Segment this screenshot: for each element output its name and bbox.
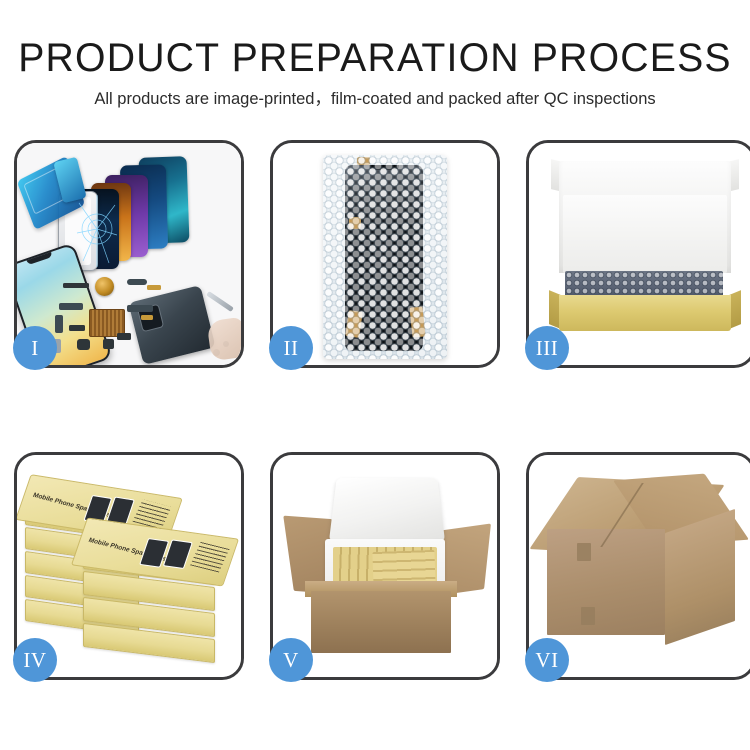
carton-front-face [547,529,665,635]
step-card-1: I [14,140,244,368]
step-badge-6: VI [525,638,569,682]
copper-coil-component [95,277,114,296]
carton-front-panel [311,591,451,653]
step-badge-3: III [525,326,569,370]
process-step-grid: I II [14,140,736,680]
infographic-page: PRODUCT PREPARATION PROCESS All products… [0,0,750,750]
header: PRODUCT PREPARATION PROCESS All products… [0,36,750,109]
step-card-5: V [270,452,500,680]
cracked-glass-icon [75,189,119,269]
step-badge-5: V [269,638,313,682]
step-card-3: III [526,140,750,368]
carton-side-panel [665,509,735,645]
foam-insert [563,195,727,273]
box-front-panel [559,295,731,331]
step-card-2: II [270,140,500,368]
carton-tape-upper [577,543,591,561]
step-badge-1: I [13,326,57,370]
step-badge-2: II [269,326,313,370]
step-card-4: Mobile Phone Spare Parts Mobile Phone Sp… [14,452,244,680]
page-subtitle: All products are image-printed，film-coat… [0,89,750,109]
step-badge-4: IV [13,638,57,682]
carton-tape-lower [581,607,595,625]
styrofoam-lid [329,478,445,543]
step-card-6: VI [526,452,750,680]
page-title: PRODUCT PREPARATION PROCESS [8,36,743,80]
bubble-wrap-bag [323,155,447,359]
